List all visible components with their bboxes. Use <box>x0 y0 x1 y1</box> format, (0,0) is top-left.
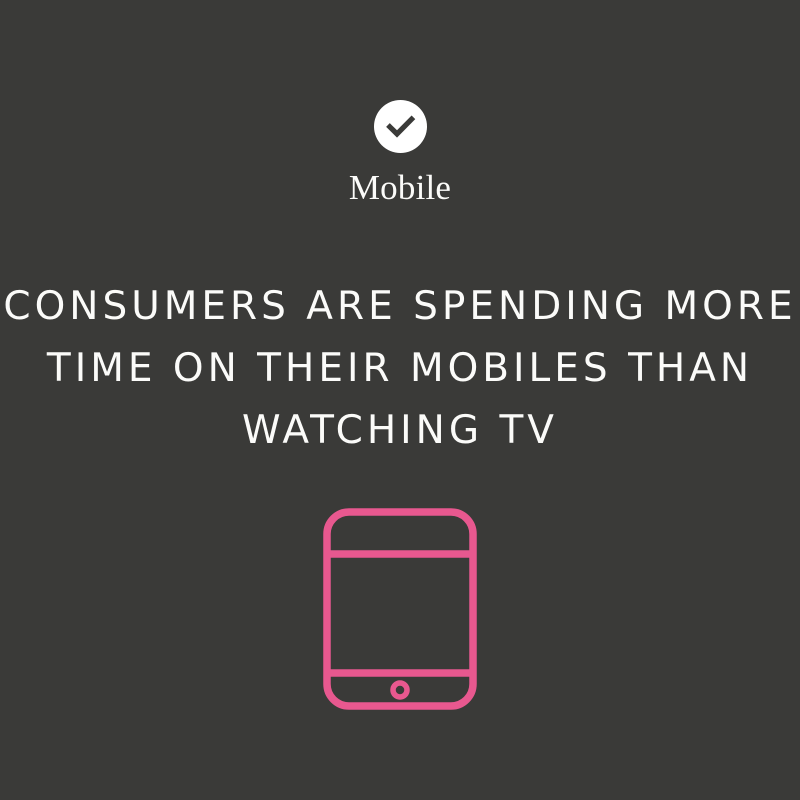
category-label: Mobile <box>349 168 451 208</box>
phone-home-button <box>393 683 407 697</box>
illustration-area <box>0 505 800 713</box>
poster-canvas: Mobile CONSUMERS ARE SPENDING MORE TIME … <box>0 0 800 800</box>
headline-line-3: WATCHING TV <box>0 400 800 462</box>
headline-line-2: TIME ON THEIR MOBILES THAN <box>0 338 800 400</box>
mobile-phone-svg <box>320 505 480 713</box>
category-badge: Mobile <box>0 100 800 208</box>
phone-body-outline <box>327 512 473 706</box>
check-circle-svg <box>374 100 427 153</box>
headline-line-1: CONSUMERS ARE SPENDING MORE <box>0 276 800 338</box>
mobile-phone-icon <box>320 505 480 713</box>
check-circle-icon <box>374 100 427 153</box>
headline: CONSUMERS ARE SPENDING MORE TIME ON THEI… <box>0 276 800 462</box>
